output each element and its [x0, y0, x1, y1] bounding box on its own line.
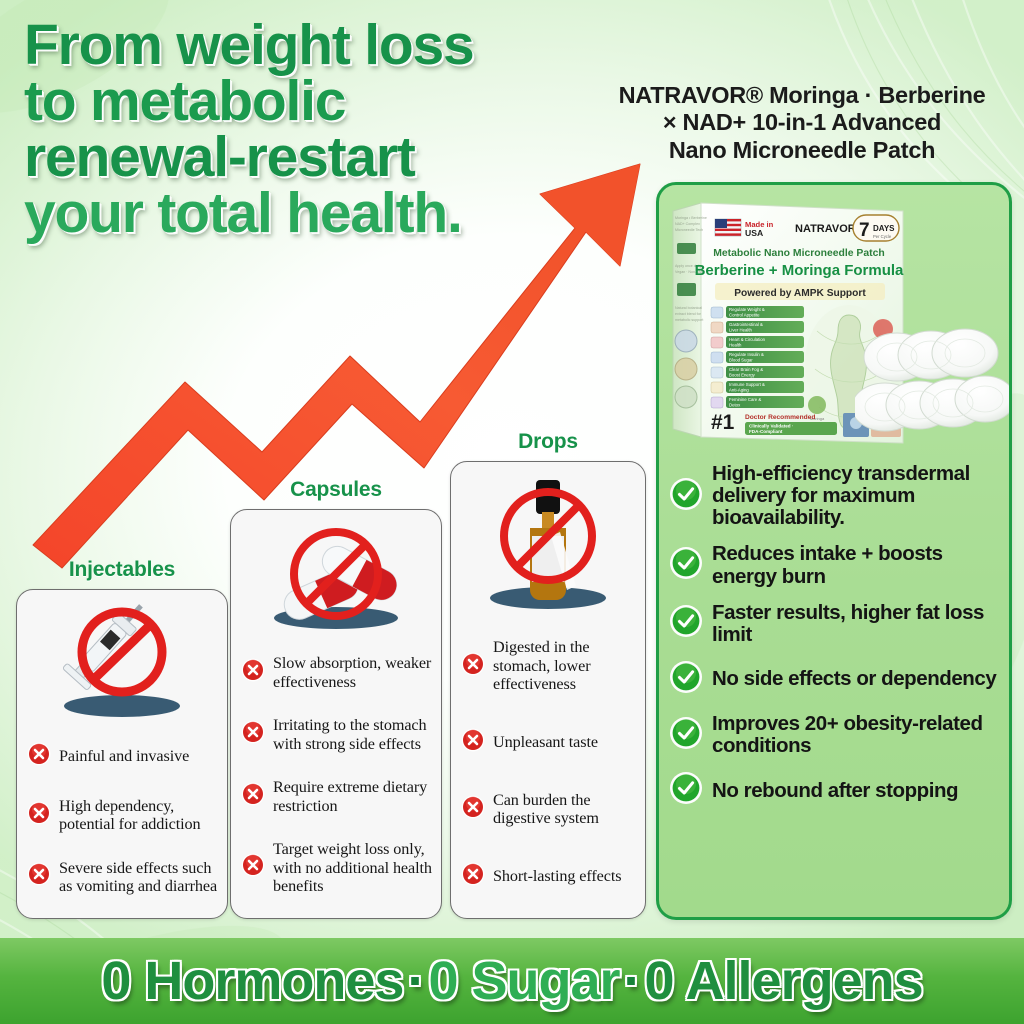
- product-title-line-1: NATRAVOR® Moringa · Berberine: [580, 82, 1024, 109]
- svg-text:USA: USA: [745, 228, 763, 238]
- con-item: Target weight loss only, with no additio…: [240, 840, 432, 895]
- con-item: Irritating to the stomach with strong si…: [240, 716, 432, 753]
- benefit-text: High-efficiency transdermal delivery for…: [712, 463, 997, 529]
- red-x-icon: [26, 800, 52, 831]
- red-x-icon: [26, 741, 52, 772]
- red-x-icon: [460, 861, 486, 892]
- svg-text:NAD+ Complex: NAD+ Complex: [675, 222, 700, 226]
- syringe-prohibited-icon: [26, 598, 218, 724]
- benefit-text: No rebound after stopping: [712, 780, 958, 802]
- red-x-icon: [240, 781, 266, 812]
- red-x-icon: [240, 657, 266, 688]
- con-item: Digested in the stomach, lower effective…: [460, 638, 636, 693]
- green-check-icon: [669, 716, 703, 755]
- product-title: NATRAVOR® Moringa · Berberine × NAD+ 10-…: [580, 82, 1024, 164]
- con-item: Require extreme dietary restriction: [240, 778, 432, 815]
- svg-text:Blood Sugar: Blood Sugar: [729, 357, 753, 362]
- con-text: Short-lasting effects: [493, 867, 621, 885]
- con-item: Can burden the digestive system: [460, 791, 636, 828]
- svg-text:Liver Health: Liver Health: [729, 327, 753, 332]
- benefit-item: No side effects or dependency: [669, 660, 997, 699]
- benefit-item: Improves 20+ obesity-related conditions: [669, 713, 997, 757]
- con-text: Require extreme dietary restriction: [273, 778, 432, 815]
- cons-list-drops: Digested in the stomach, lower effective…: [460, 622, 636, 908]
- svg-text:Doctor Recommended: Doctor Recommended: [745, 414, 815, 421]
- cons-list-capsules: Slow absorption, weaker effectiveness Ir…: [240, 642, 432, 908]
- competitor-card-drops: Drops Digested: [450, 430, 646, 920]
- svg-text:Detox: Detox: [729, 402, 741, 407]
- con-text: Painful and invasive: [59, 747, 189, 765]
- product-title-line-3: Nano Microneedle Patch: [580, 137, 1024, 164]
- con-text: Target weight loss only, with no additio…: [273, 840, 432, 895]
- con-item: High dependency, potential for addiction: [26, 797, 218, 834]
- svg-text:extract blend for: extract blend for: [675, 312, 702, 316]
- svg-text:metabolic support: metabolic support: [675, 318, 703, 322]
- svg-text:Per Cycle: Per Cycle: [873, 234, 892, 239]
- microneedle-patches-image: [855, 323, 1012, 453]
- card-body-drops: Digested in the stomach, lower effective…: [450, 461, 646, 919]
- svg-text:Natural botanical: Natural botanical: [675, 306, 702, 310]
- red-x-icon: [460, 651, 486, 682]
- competitor-card-capsules: Capsules: [230, 478, 442, 920]
- infographic-canvas: From weight loss to metabolic renewal-re…: [0, 0, 1024, 1024]
- benefits-list: High-efficiency transdermal delivery for…: [659, 457, 1009, 909]
- benefit-item: High-efficiency transdermal delivery for…: [669, 463, 997, 529]
- banner-item-sugar: 0 Sugar: [428, 951, 619, 1011]
- con-text: Irritating to the stomach with strong si…: [273, 716, 432, 753]
- red-x-icon: [26, 861, 52, 892]
- svg-text:Anti-Aging: Anti-Aging: [729, 387, 749, 392]
- green-check-icon: [669, 546, 703, 585]
- card-title-injectables: Injectables: [16, 558, 228, 582]
- benefit-item: No rebound after stopping: [669, 771, 997, 810]
- banner-separator: ·: [620, 951, 645, 1011]
- bottom-banner: 0 Hormones·0 Sugar·0 Allergens: [0, 938, 1024, 1024]
- card-body-injectables: Painful and invasive High dependency, po…: [16, 589, 228, 919]
- headline-line-1: From weight loss: [24, 18, 584, 74]
- card-title-capsules: Capsules: [230, 478, 442, 502]
- green-check-icon: [669, 477, 703, 516]
- dropper-bottle-prohibited-icon: [460, 470, 636, 618]
- svg-text:Moringa • Berberine: Moringa • Berberine: [675, 216, 707, 220]
- svg-text:Clinically Validated ·: Clinically Validated ·: [749, 424, 793, 429]
- red-x-icon: [460, 727, 486, 758]
- svg-text:Metabolic Nano Microneedle Pat: Metabolic Nano Microneedle Patch: [713, 248, 884, 259]
- benefit-text: Reduces intake + boosts energy burn: [712, 543, 997, 587]
- svg-text:Microneedle Tech: Microneedle Tech: [675, 228, 703, 232]
- con-text: Digested in the stomach, lower effective…: [493, 638, 636, 693]
- con-text: Severe side effects such as vomiting and…: [59, 859, 218, 896]
- con-item: Painful and invasive: [26, 741, 218, 772]
- benefit-text: Faster results, higher fat loss limit: [712, 602, 997, 646]
- svg-text:7: 7: [859, 220, 870, 241]
- svg-text:FDA-Compliant: FDA-Compliant: [749, 429, 783, 434]
- product-benefits-panel: Moringa • Berberine NAD+ Complex Microne…: [656, 182, 1012, 920]
- capsules-prohibited-icon: [240, 518, 432, 638]
- card-body-capsules: Slow absorption, weaker effectiveness Ir…: [230, 509, 442, 919]
- benefit-item: Reduces intake + boosts energy burn: [669, 543, 997, 587]
- con-text: Can burden the digestive system: [493, 791, 636, 828]
- banner-item-hormones: 0 Hormones: [101, 951, 403, 1011]
- product-title-line-2: × NAD+ 10-in-1 Advanced: [580, 109, 1024, 136]
- benefit-text: Improves 20+ obesity-related conditions: [712, 713, 997, 757]
- con-text: High dependency, potential for addiction: [59, 797, 218, 834]
- con-item: Slow absorption, weaker effectiveness: [240, 654, 432, 691]
- banner-text: 0 Hormones·0 Sugar·0 Allergens: [101, 950, 922, 1012]
- product-hero-image: Moringa • Berberine NAD+ Complex Microne…: [659, 185, 1009, 457]
- competitor-card-injectables: Injectables: [16, 558, 228, 920]
- red-x-icon: [240, 852, 266, 883]
- svg-text:Powered by AMPK Support: Powered by AMPK Support: [734, 288, 866, 299]
- banner-separator: ·: [403, 951, 428, 1011]
- con-item: Unpleasant taste: [460, 727, 636, 758]
- card-title-drops: Drops: [450, 430, 646, 454]
- green-check-icon: [669, 604, 703, 643]
- svg-text:#1: #1: [711, 411, 735, 434]
- green-check-icon: [669, 771, 703, 810]
- con-item: Short-lasting effects: [460, 861, 636, 892]
- svg-text:DAYS: DAYS: [873, 224, 895, 233]
- con-text: Unpleasant taste: [493, 733, 598, 751]
- con-item: Severe side effects such as vomiting and…: [26, 859, 218, 896]
- svg-text:Boost Energy: Boost Energy: [729, 372, 756, 377]
- con-text: Slow absorption, weaker effectiveness: [273, 654, 432, 691]
- benefit-item: Faster results, higher fat loss limit: [669, 602, 997, 646]
- benefit-text: No side effects or dependency: [712, 668, 996, 690]
- red-x-icon: [240, 719, 266, 750]
- svg-text:Control Appetite: Control Appetite: [729, 312, 760, 317]
- svg-text:Berberine + Moringa Formula: Berberine + Moringa Formula: [695, 262, 904, 279]
- banner-item-allergens: 0 Allergens: [645, 951, 923, 1011]
- cons-list-injectables: Painful and invasive High dependency, po…: [26, 728, 218, 908]
- svg-text:Health: Health: [729, 342, 742, 347]
- green-check-icon: [669, 660, 703, 699]
- red-x-icon: [460, 794, 486, 825]
